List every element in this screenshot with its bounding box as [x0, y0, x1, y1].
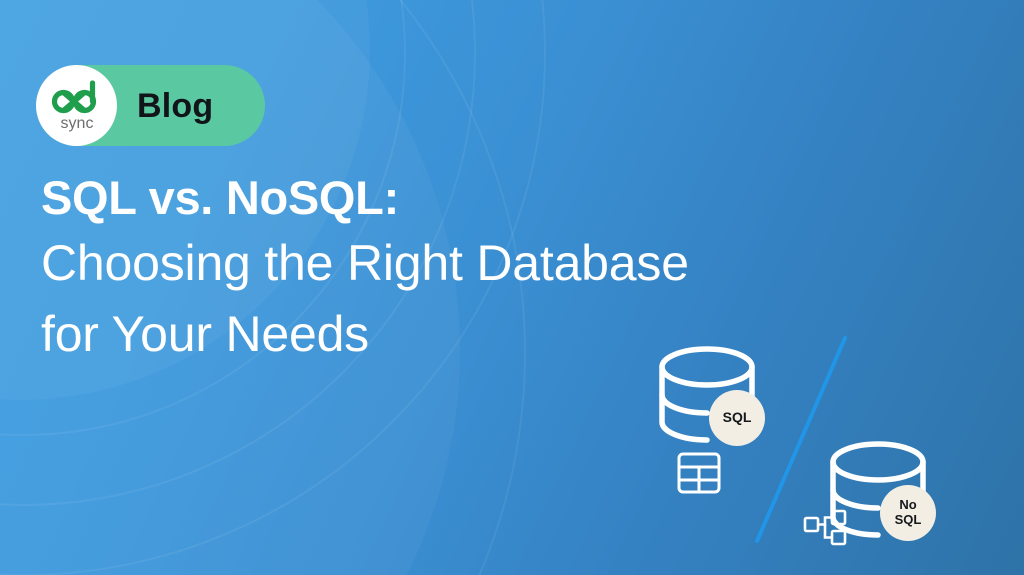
- nosql-badge-label-line2: SQL: [895, 513, 922, 528]
- dbsync-logo: sync: [36, 65, 117, 146]
- blog-banner: sync Blog SQL vs. NoSQL: Choosing the Ri…: [0, 0, 1024, 575]
- illustration-svg: [640, 325, 1024, 575]
- table-grid-icon: [679, 454, 719, 492]
- headline-line-1: SQL vs. NoSQL:: [41, 168, 871, 228]
- brand-blog-pill[interactable]: sync Blog: [36, 65, 265, 146]
- nosql-badge: No SQL: [880, 485, 936, 541]
- dbsync-logo-sync-text: sync: [60, 115, 93, 132]
- sql-badge: SQL: [709, 390, 765, 446]
- headline-line-2: Choosing the Right Database: [41, 228, 871, 299]
- dbsync-logo-mark: sync: [46, 80, 108, 132]
- blog-pill-label: Blog: [137, 89, 213, 123]
- sql-badge-label: SQL: [723, 410, 752, 426]
- sql-vs-nosql-illustration: SQL No SQL: [640, 325, 1024, 575]
- nosql-badge-label-line1: No: [899, 498, 916, 513]
